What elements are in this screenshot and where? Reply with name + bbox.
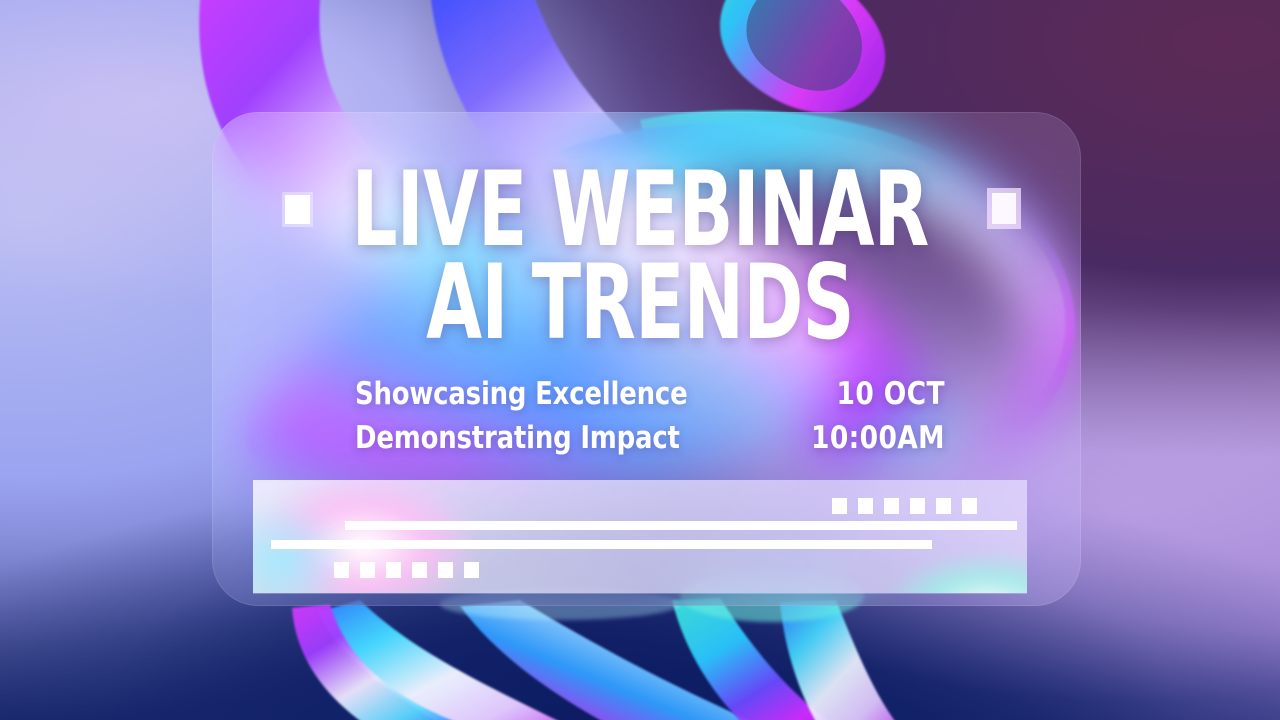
dot-row-top [832,498,977,514]
dot-top-2-icon [858,498,873,514]
dot-bottom-4-icon [412,562,427,578]
placeholder-bar-upper [345,521,1017,530]
dot-row-bottom [334,562,479,578]
dot-bottom-3-icon [386,562,401,578]
dot-top-6-icon [962,498,977,514]
placeholder-bar-lower [271,540,932,549]
dot-bottom-6-icon [464,562,479,578]
dot-bottom-2-icon [360,562,375,578]
dot-top-3-icon [884,498,899,514]
dot-bottom-1-icon [334,562,349,578]
dot-top-1-icon [832,498,847,514]
dot-top-5-icon [936,498,951,514]
dot-top-4-icon [910,498,925,514]
poster-canvas: LIVE WEBINAR AI TRENDS Showcasing Excell… [0,0,1280,720]
footer-panel [253,480,1027,593]
dot-bottom-5-icon [438,562,453,578]
